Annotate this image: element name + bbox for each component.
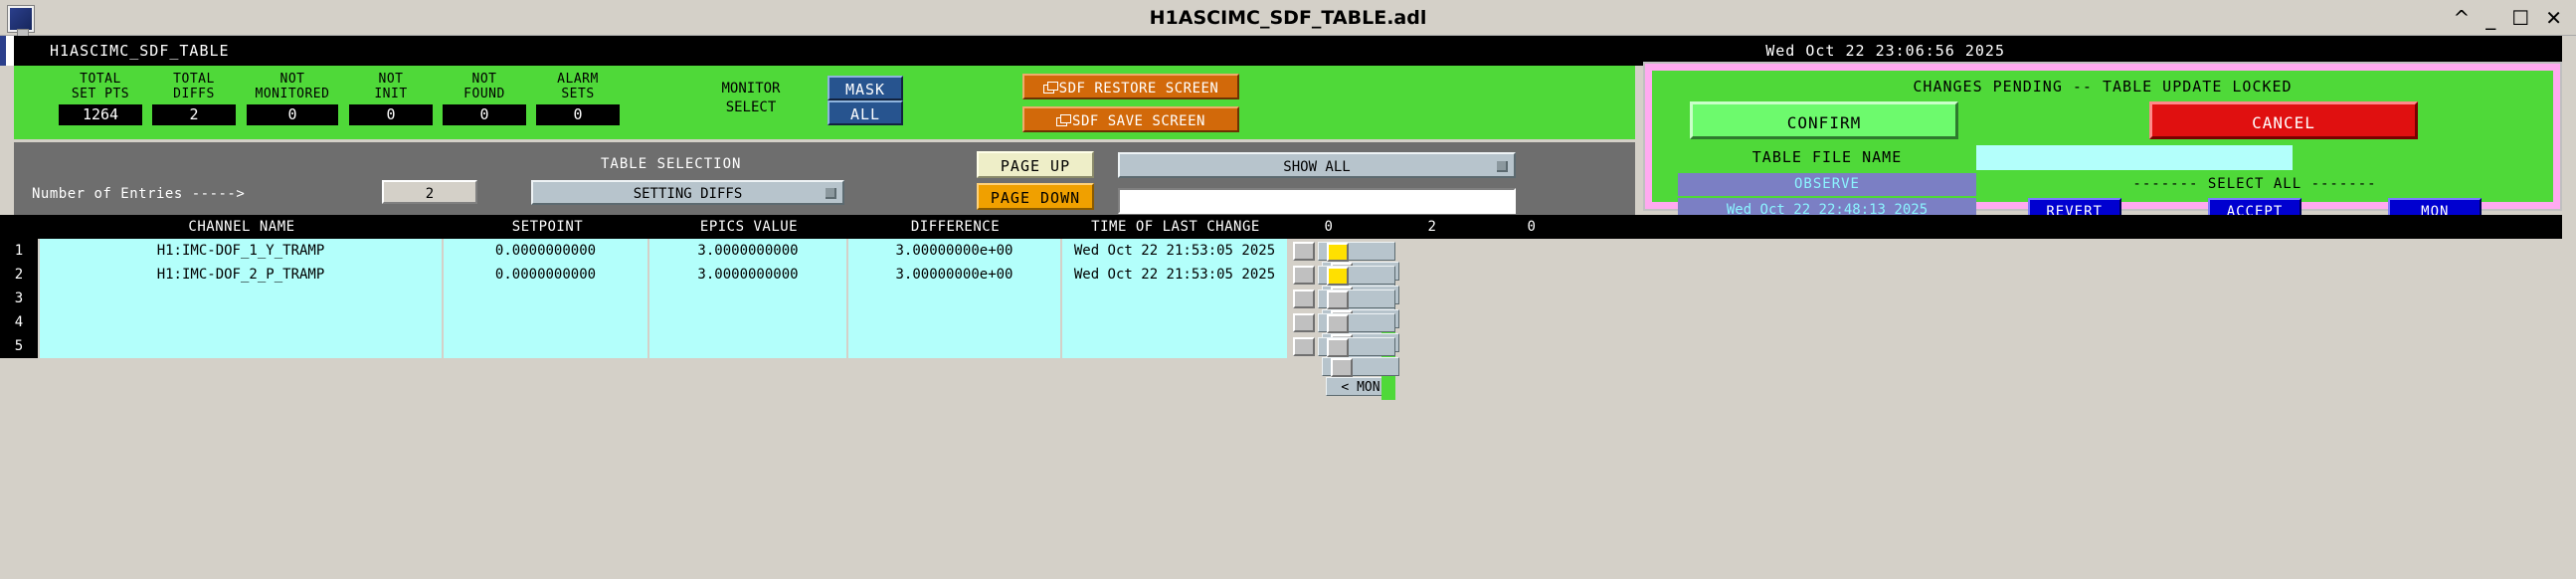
cell-difference-text xyxy=(848,287,1060,310)
left-accent-bar xyxy=(0,36,6,66)
revert-checkbox[interactable] xyxy=(1293,313,1315,332)
accept-checkbox[interactable] xyxy=(1327,314,1349,333)
cell-time-text xyxy=(1062,334,1287,358)
cell-difference-text: 3.00000000e+00 xyxy=(848,239,1060,263)
number-of-entries-input[interactable]: 2 xyxy=(382,180,477,204)
stat-value: 0 xyxy=(247,104,338,125)
column-header-revert-count: 0 xyxy=(1289,215,1369,239)
window-copy-icon xyxy=(1056,117,1067,126)
sdf-save-label: SDF SAVE SCREEN xyxy=(1072,113,1205,129)
row-action-buttons: < MON xyxy=(1293,336,1395,357)
cell-channel-name-text xyxy=(40,334,442,358)
table-row: 3< MON xyxy=(0,287,2576,310)
stat-not-init: NOT INIT 0 xyxy=(344,66,438,125)
column-header-channel-name: CHANNEL NAME xyxy=(38,215,446,239)
chevron-down-icon xyxy=(1497,161,1508,172)
window-controls: ^ _ ☐ ✕ xyxy=(2454,8,2576,28)
stat-label-line2: SETS xyxy=(531,87,625,101)
accept-checkbox[interactable] xyxy=(1327,338,1349,357)
chevron-down-icon xyxy=(826,188,836,199)
mask-button[interactable]: MASK xyxy=(828,76,903,100)
cell-epics-value-text: 3.0000000000 xyxy=(649,263,846,287)
shade-up-icon[interactable]: ^ xyxy=(2454,8,2471,28)
cell-epics-value-text xyxy=(649,287,846,310)
stat-value: 0 xyxy=(536,104,620,125)
stat-not-found: NOT FOUND 0 xyxy=(438,66,531,125)
filter-dropdown[interactable]: SETTING DIFFS xyxy=(531,180,844,205)
cell-setpoint-text xyxy=(444,287,647,310)
stat-value: 1264 xyxy=(59,104,142,125)
stat-value: 0 xyxy=(349,104,433,125)
cell-channel-name-text: H1:IMC-DOF_1_Y_TRAMP xyxy=(40,239,442,263)
minimize-icon[interactable]: _ xyxy=(2485,8,2495,28)
cell-setpoint-text xyxy=(444,334,647,358)
stat-label-line2: DIFFS xyxy=(147,87,241,101)
stat-label-line1: TOTAL xyxy=(54,72,147,87)
cell-setpoint-text xyxy=(444,310,647,334)
cell-epics-value-text: 3.0000000000 xyxy=(649,239,846,263)
show-dropdown[interactable]: SHOW ALL xyxy=(1118,152,1516,178)
revert-button[interactable]: < MON xyxy=(1318,242,1395,261)
stat-label-line2: INIT xyxy=(344,87,438,101)
sdf-save-screen-button[interactable]: SDF SAVE SCREEN xyxy=(1022,106,1239,132)
cell-time-text xyxy=(1062,287,1287,310)
stat-alarm-sets: ALARM SETS 0 xyxy=(531,66,625,125)
cell-time-text xyxy=(1062,310,1287,334)
stat-value: 2 xyxy=(152,104,236,125)
changes-pending-title: CHANGES PENDING -- TABLE UPDATE LOCKED xyxy=(1652,71,2553,96)
cell-time-text: Wed Oct 22 21:53:05 2025 xyxy=(1062,263,1287,287)
stat-value: 0 xyxy=(443,104,526,125)
title-bar: H1ASCIMC_SDF_TABLE.adl ^ _ ☐ ✕ xyxy=(0,0,2576,36)
changes-pending-inner: CHANGES PENDING -- TABLE UPDATE LOCKED C… xyxy=(1652,71,2553,202)
show-dropdown-value: SHOW ALL xyxy=(1283,159,1350,175)
sdf-buttons: SDF RESTORE SCREEN SDF SAVE SCREEN xyxy=(1022,66,1239,139)
stat-total-diffs: TOTAL DIFFS 2 xyxy=(147,66,241,125)
cell-epics-value-text xyxy=(649,310,846,334)
monitor-select-buttons: MASK ALL xyxy=(828,66,903,125)
stat-label-line1: NOT xyxy=(241,72,344,87)
window-copy-icon xyxy=(1043,85,1054,94)
stat-label-line2: MONITORED xyxy=(241,87,344,101)
stat-total-set-pts: TOTAL SET PTS 1264 xyxy=(54,66,147,125)
observe-status: OBSERVE xyxy=(1678,173,1976,196)
page-down-button[interactable]: PAGE DOWN xyxy=(977,183,1094,210)
cell-channel-name-text xyxy=(40,310,442,334)
cell-channel-name-text: H1:IMC-DOF_2_P_TRAMP xyxy=(40,263,442,287)
cell-time-text: Wed Oct 22 21:53:05 2025 xyxy=(1062,239,1287,263)
table-file-name-label: TABLE FILE NAME xyxy=(1678,145,1976,166)
number-of-entries-label: Number of Entries -----> xyxy=(32,186,245,202)
screen-name: H1ASCIMC_SDF_TABLE xyxy=(14,42,230,60)
row-number: 4 xyxy=(0,310,38,334)
stat-label-line2: SET PTS xyxy=(54,87,147,101)
observe-row: OBSERVE ------- SELECT ALL ------- xyxy=(1652,170,2553,196)
row-action-buttons: < MON xyxy=(1293,241,1395,262)
row-right-green-marker xyxy=(1381,376,1395,400)
filter-dropdown-value: SETTING DIFFS xyxy=(634,186,743,202)
revert-button[interactable]: < MON xyxy=(1318,313,1395,332)
table-row: 1H1:IMC-DOF_1_Y_TRAMP0.00000000003.00000… xyxy=(0,239,2576,263)
stat-label-line1: NOT xyxy=(344,72,438,87)
header-timestamp: Wed Oct 22 23:06:56 2025 xyxy=(1765,42,2562,60)
all-button[interactable]: ALL xyxy=(828,100,903,125)
mon-checkbox[interactable] xyxy=(1331,358,1353,377)
sdf-restore-label: SDF RESTORE SCREEN xyxy=(1059,81,1219,96)
table-rows: 1H1:IMC-DOF_1_Y_TRAMP0.00000000003.00000… xyxy=(0,239,2576,358)
row-number: 1 xyxy=(0,239,38,263)
table-file-name-row: TABLE FILE NAME xyxy=(1652,139,2553,170)
column-header-time-of-last-change: TIME OF LAST CHANGE xyxy=(1062,215,1289,239)
cell-setpoint-text: 0.0000000000 xyxy=(444,239,647,263)
cancel-button[interactable]: CANCEL xyxy=(2149,101,2418,139)
revert-button[interactable]: < MON xyxy=(1318,289,1395,308)
table-selection-label: TABLE SELECTION xyxy=(601,156,741,172)
table-header: CHANNEL NAME SETPOINT EPICS VALUE DIFFER… xyxy=(0,215,2576,239)
revert-checkbox[interactable] xyxy=(1293,266,1315,285)
revert-checkbox[interactable] xyxy=(1293,289,1315,308)
table-toolbar: TABLE SELECTION Number of Entries ----->… xyxy=(14,142,1635,215)
column-header-difference: DIFFERENCE xyxy=(848,215,1062,239)
revert-button[interactable]: < MON xyxy=(1318,266,1395,285)
row-action-buttons: < MON xyxy=(1293,265,1395,286)
accept-checkbox[interactable] xyxy=(1327,267,1349,286)
accept-checkbox[interactable] xyxy=(1327,290,1349,309)
table-row: 5< MON xyxy=(0,334,2576,358)
cell-setpoint-text: 0.0000000000 xyxy=(444,263,647,287)
row-action-buttons: < MON xyxy=(1293,289,1395,309)
monitor-select-line1: MONITOR xyxy=(696,80,806,98)
stat-not-monitored: NOT MONITORED 0 xyxy=(241,66,344,125)
column-header-setpoint: SETPOINT xyxy=(446,215,649,239)
sdf-restore-screen-button[interactable]: SDF RESTORE SCREEN xyxy=(1022,74,1239,99)
stat-label-line1: TOTAL xyxy=(147,72,241,87)
sdf-table-window: H1ASCIMC_SDF_TABLE.adl ^ _ ☐ ✕ H1ASCIMC_… xyxy=(0,0,2576,579)
cell-channel-name-text xyxy=(40,287,442,310)
monitor-select-label: MONITOR SELECT xyxy=(696,66,806,117)
cell-difference-text: 3.00000000e+00 xyxy=(848,263,1060,287)
close-icon[interactable]: ✕ xyxy=(2545,8,2562,28)
accept-button[interactable]: < MON xyxy=(1322,357,1399,376)
confirm-cancel-row: CONFIRM CANCEL xyxy=(1652,96,2553,139)
table-file-name-input[interactable] xyxy=(1976,145,2293,170)
page-up-button[interactable]: PAGE UP xyxy=(977,151,1094,178)
row-number: 3 xyxy=(0,287,38,310)
cell-epics-value-text xyxy=(649,334,846,358)
window-title: H1ASCIMC_SDF_TABLE.adl xyxy=(0,7,2576,29)
monitor-select-line2: SELECT xyxy=(696,98,806,117)
column-header-epics-value: EPICS VALUE xyxy=(649,215,848,239)
revert-checkbox[interactable] xyxy=(1293,337,1315,356)
accept-checkbox[interactable] xyxy=(1327,243,1349,262)
stat-label-line1: NOT xyxy=(438,72,531,87)
stat-label-line2: FOUND xyxy=(438,87,531,101)
confirm-button[interactable]: CONFIRM xyxy=(1690,101,1958,139)
changes-pending-panel: CHANGES PENDING -- TABLE UPDATE LOCKED C… xyxy=(1643,62,2562,211)
table-row: 4< MON xyxy=(0,310,2576,334)
row-action-buttons: < MON xyxy=(1293,312,1395,333)
cell-difference-text xyxy=(848,334,1060,358)
revert-checkbox[interactable] xyxy=(1293,242,1315,261)
search-input[interactable] xyxy=(1118,188,1516,214)
stat-label-line1: ALARM xyxy=(531,72,625,87)
row-number: 2 xyxy=(0,263,38,287)
table-row: 2H1:IMC-DOF_2_P_TRAMP0.00000000003.00000… xyxy=(0,263,2576,287)
cell-difference-text xyxy=(848,310,1060,334)
revert-button[interactable]: < MON xyxy=(1318,337,1395,356)
select-all-label: ------- SELECT ALL ------- xyxy=(1976,173,2533,196)
row-number: 5 xyxy=(0,334,38,358)
column-header-accept-count: 2 xyxy=(1392,215,1472,239)
stats-panel: TOTAL SET PTS 1264 TOTAL DIFFS 2 NOT MON… xyxy=(14,66,1635,139)
maximize-icon[interactable]: ☐ xyxy=(2511,8,2529,28)
column-header-mon-count: 0 xyxy=(1492,215,1571,239)
